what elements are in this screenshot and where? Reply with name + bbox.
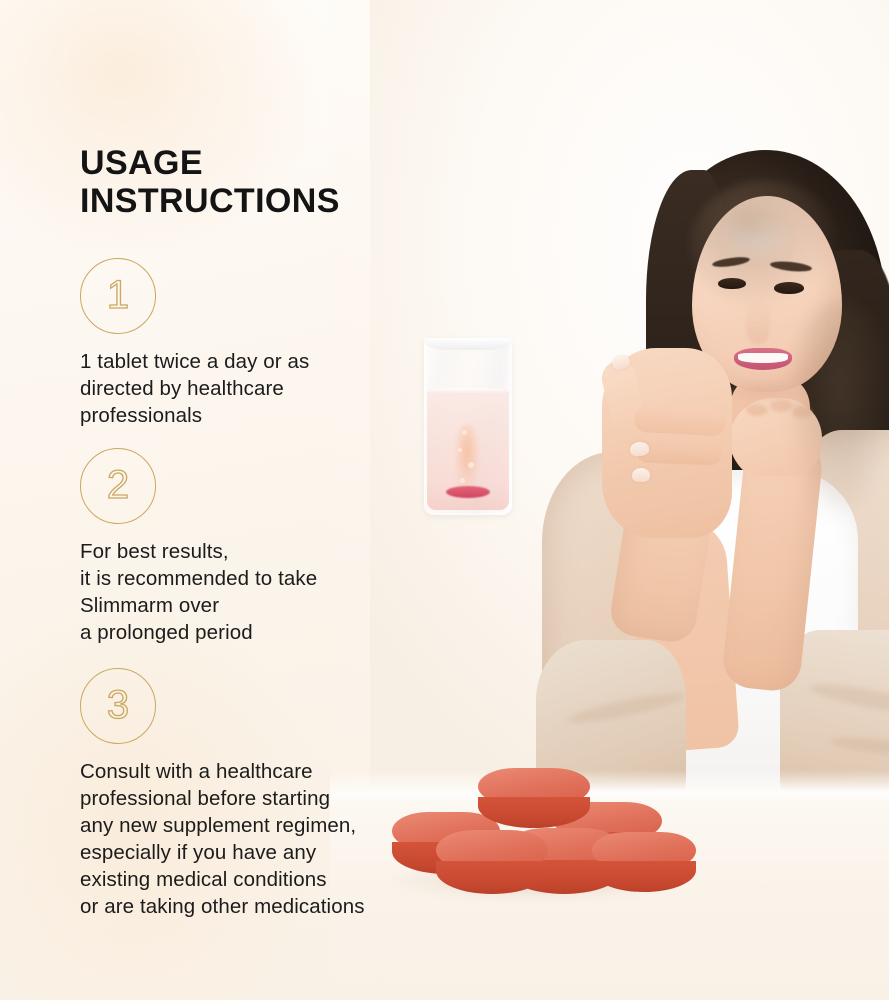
bubble [460, 478, 465, 483]
finger-over-glass [633, 406, 726, 437]
tablet [592, 832, 696, 892]
instruction-step-2: 2 For best results, it is recommended to… [80, 448, 317, 646]
bubble [462, 430, 467, 435]
eye-right [774, 282, 804, 294]
bubble [468, 462, 474, 468]
mouth-smiling [734, 348, 792, 370]
instruction-step-3: 3 Consult with a healthcare professional… [80, 668, 365, 920]
fingernail [632, 468, 650, 483]
step-number-3: 3 [107, 685, 129, 727]
instructions-column: USAGE INSTRUCTIONS 1 1 tablet twice a da… [0, 0, 460, 1000]
instruction-step-1: 1 1 tablet twice a day or as directed by… [80, 258, 309, 429]
step-text-1: 1 tablet twice a day or as directed by h… [80, 348, 309, 429]
chin-shadow [724, 380, 804, 404]
page-title: USAGE INSTRUCTIONS [80, 144, 340, 220]
eye-left [718, 278, 746, 289]
tablet [478, 768, 590, 828]
teeth [738, 353, 788, 363]
step-number-badge-2: 2 [80, 448, 156, 524]
hair-highlight [785, 300, 889, 520]
usage-instructions-page: USAGE INSTRUCTIONS 1 1 tablet twice a da… [0, 0, 889, 1000]
knuckle [746, 404, 768, 416]
step-text-2: For best results, it is recommended to t… [80, 538, 317, 646]
step-number-2: 2 [107, 465, 129, 507]
hair-highlight [690, 180, 840, 310]
step-number-1: 1 [107, 275, 129, 317]
step-number-badge-1: 1 [80, 258, 156, 334]
step-number-badge-3: 3 [80, 668, 156, 744]
nose [746, 300, 770, 344]
step-text-3: Consult with a healthcare professional b… [80, 758, 365, 920]
